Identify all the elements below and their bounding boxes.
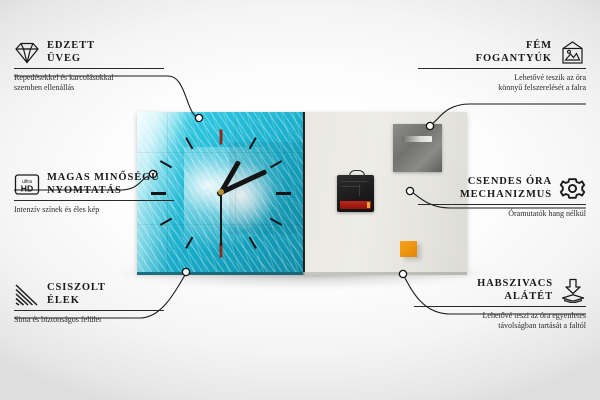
ultra-hd-icon: ultra HD xyxy=(14,173,40,196)
picture-hanger-icon xyxy=(559,40,586,65)
title-line-1: HABSZIVACS xyxy=(477,278,553,289)
clock-tick xyxy=(160,218,172,226)
clock-tick xyxy=(185,237,193,249)
feature-divider xyxy=(414,306,586,307)
title-line-1: EDZETT xyxy=(47,40,95,51)
feature-title: EDZETTÜVEG xyxy=(47,40,95,65)
clock-tick xyxy=(249,137,257,149)
feature-silent-mechanism: CSENDES ÓRAMECHANIZMUS Óramutatók hang n… xyxy=(418,176,586,219)
feature-description: Lehetővé teszi az óra egyenletes távolsá… xyxy=(414,311,586,331)
feature-description: Sima és biztonságos felület xyxy=(14,315,164,325)
gear-icon xyxy=(559,176,586,201)
feature-high-quality-print: ultra HD MAGAS MINŐSÉGŰNYOMTATÁS Intenzí… xyxy=(14,172,174,215)
feature-header: EDZETTÜVEG xyxy=(14,40,164,65)
svg-text:HD: HD xyxy=(21,183,33,193)
feature-description: Óramutatók hang nélkül xyxy=(418,209,586,219)
feature-title: CSENDES ÓRAMECHANIZMUS xyxy=(460,176,552,201)
feature-description: Lehetővé teszik az óra könnyű felszerelé… xyxy=(418,73,586,93)
feature-title: FÉMFOGANTYÚK xyxy=(476,40,552,65)
clock-battery xyxy=(340,201,371,209)
panel-bottom-edge xyxy=(137,272,467,275)
clock-tick xyxy=(220,130,223,145)
feature-divider xyxy=(418,68,586,69)
feature-description: Repedésekkel és karcolásokkal szemben el… xyxy=(14,73,164,93)
title-line-2: MECHANIZMUS xyxy=(460,189,552,200)
hanger-slot xyxy=(402,136,432,142)
title-line-1: CSISZOLT xyxy=(47,282,106,293)
infographic-canvas: EDZETTÜVEG Repedésekkel és karcolásokkal… xyxy=(0,0,600,400)
feature-header: HABSZIVACSALÁTÉT xyxy=(414,278,586,303)
mechanism-detail xyxy=(359,184,360,196)
mechanism-detail xyxy=(341,181,367,182)
clock-second-hand xyxy=(220,188,222,246)
feature-polished-edges: CSISZOLTÉLEK Sima és biztonságos felület xyxy=(14,282,164,325)
feature-description: Intenzív színek és éles kép xyxy=(14,205,174,215)
title-line-2: ÜVEG xyxy=(47,53,81,64)
clock-mechanism xyxy=(337,175,374,212)
feature-divider xyxy=(14,200,174,201)
clock-tick xyxy=(270,218,282,226)
feature-title: MAGAS MINŐSÉGŰNYOMTATÁS xyxy=(47,172,160,197)
feature-header: FÉMFOGANTYÚK xyxy=(418,40,586,65)
clock-center-pin xyxy=(218,189,224,195)
foam-layers-icon xyxy=(560,278,586,303)
title-line-1: MAGAS MINŐSÉGŰ xyxy=(47,172,160,183)
feature-tempered-glass: EDZETTÜVEG Repedésekkel és karcolásokkal… xyxy=(14,40,164,93)
clock-tick xyxy=(270,160,282,168)
foam-pad xyxy=(400,241,417,257)
title-line-2: ÉLEK xyxy=(47,295,80,306)
diamond-icon xyxy=(14,41,40,65)
title-line-1: FÉM xyxy=(526,40,552,51)
mechanism-loop xyxy=(349,170,365,178)
beveled-edge-icon xyxy=(14,283,40,307)
title-line-2: FOGANTYÚK xyxy=(476,53,552,64)
feature-foam-backing: HABSZIVACSALÁTÉT Lehetővé teszi az óra e… xyxy=(414,278,586,331)
feature-divider xyxy=(14,68,164,69)
feature-metal-handles: FÉMFOGANTYÚK Lehetővé teszik az óra könn… xyxy=(418,40,586,93)
feature-header: CSENDES ÓRAMECHANIZMUS xyxy=(418,176,586,201)
feature-divider xyxy=(14,310,164,311)
feature-title: HABSZIVACSALÁTÉT xyxy=(477,278,553,303)
clock-tick xyxy=(276,192,291,195)
title-line-2: ALÁTÉT xyxy=(504,291,553,302)
title-line-2: NYOMTATÁS xyxy=(47,185,122,196)
clock-tick xyxy=(249,237,257,249)
clock-tick xyxy=(160,160,172,168)
title-line-1: CSENDES ÓRA xyxy=(468,176,552,187)
battery-terminal xyxy=(367,202,370,208)
feature-header: CSISZOLTÉLEK xyxy=(14,282,164,307)
mechanism-detail xyxy=(341,186,359,187)
feature-divider xyxy=(418,204,586,205)
feature-header: ultra HD MAGAS MINŐSÉGŰNYOMTATÁS xyxy=(14,172,174,197)
clock-tick xyxy=(185,137,193,149)
metal-hanger-icon xyxy=(393,124,442,172)
feature-title: CSISZOLTÉLEK xyxy=(47,282,106,307)
